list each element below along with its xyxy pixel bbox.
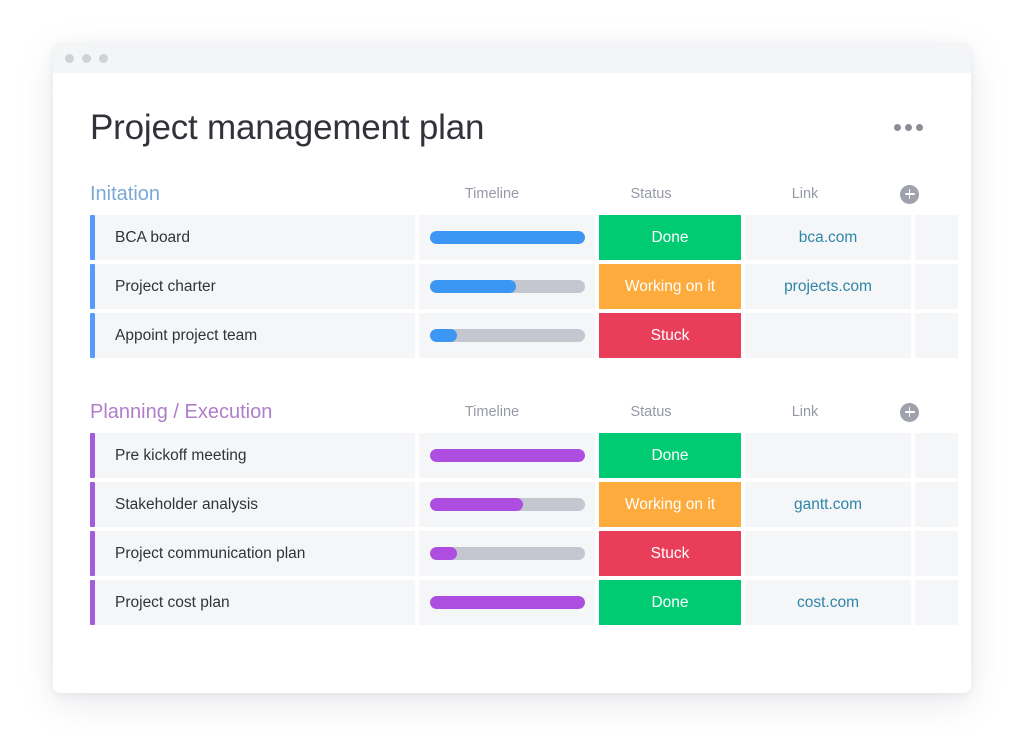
status-badge[interactable]: Stuck xyxy=(599,531,741,576)
link-cell[interactable]: projects.com xyxy=(745,264,911,309)
progress-fill xyxy=(430,449,585,462)
column-headers: TimelineStatusLink xyxy=(404,185,931,204)
table-row[interactable]: Stakeholder analysisWorking on itgantt.c… xyxy=(90,482,931,527)
progress-fill xyxy=(430,498,523,511)
table-row[interactable]: Appoint project teamStuck xyxy=(90,313,931,358)
column-headers: TimelineStatusLink xyxy=(404,403,931,422)
progress-fill xyxy=(430,329,458,342)
timeline-cell[interactable] xyxy=(419,433,595,478)
add-column-cell xyxy=(888,403,931,422)
progress-fill xyxy=(430,231,585,244)
task-name-cell[interactable]: Stakeholder analysis xyxy=(95,482,415,527)
link-cell[interactable] xyxy=(745,531,911,576)
empty-column-cell[interactable] xyxy=(915,482,958,527)
task-name-cell[interactable]: Project charter xyxy=(95,264,415,309)
table-row[interactable]: BCA boardDonebca.com xyxy=(90,215,931,260)
task-name-cell[interactable]: BCA board xyxy=(95,215,415,260)
table-row[interactable]: Pre kickoff meetingDone xyxy=(90,433,931,478)
add-column-cell xyxy=(888,185,931,204)
table-row[interactable]: Project communication planStuck xyxy=(90,531,931,576)
group-title[interactable]: Planning / Execution xyxy=(90,400,272,424)
timeline-cell[interactable] xyxy=(419,215,595,260)
task-name-cell[interactable]: Pre kickoff meeting xyxy=(95,433,415,478)
progress-track xyxy=(430,329,585,342)
link-cell[interactable]: gantt.com xyxy=(745,482,911,527)
plus-circle-icon[interactable] xyxy=(900,185,919,204)
ellipsis-horizontal-icon[interactable] xyxy=(894,124,923,131)
board-group: InitationTimelineStatusLinkBCA boardDone… xyxy=(90,179,931,358)
column-header-timeline[interactable]: Timeline xyxy=(404,186,580,202)
timeline-cell[interactable] xyxy=(419,482,595,527)
window-maximize-dot[interactable] xyxy=(99,54,108,63)
board-container: Project management plan InitationTimelin… xyxy=(53,73,971,693)
link-cell[interactable] xyxy=(745,313,911,358)
group-title[interactable]: Initation xyxy=(90,182,160,206)
progress-track xyxy=(430,596,585,609)
table-row[interactable]: Project cost planDonecost.com xyxy=(90,580,931,625)
timeline-cell[interactable] xyxy=(419,264,595,309)
group-header: InitationTimelineStatusLink xyxy=(90,179,931,209)
task-name-cell[interactable]: Project communication plan xyxy=(95,531,415,576)
column-header-link[interactable]: Link xyxy=(722,186,888,202)
column-header-timeline[interactable]: Timeline xyxy=(404,404,580,420)
groups-root: InitationTimelineStatusLinkBCA boardDone… xyxy=(90,179,931,625)
progress-fill xyxy=(430,280,517,293)
status-badge[interactable]: Done xyxy=(599,433,741,478)
link-cell[interactable]: cost.com xyxy=(745,580,911,625)
window-minimize-dot[interactable] xyxy=(82,54,91,63)
column-header-status[interactable]: Status xyxy=(580,186,722,202)
plus-circle-icon[interactable] xyxy=(900,403,919,422)
column-header-status[interactable]: Status xyxy=(580,404,722,420)
empty-column-cell[interactable] xyxy=(915,531,958,576)
ellipsis-dot xyxy=(916,124,923,131)
status-badge[interactable]: Done xyxy=(599,580,741,625)
table-row[interactable]: Project charterWorking on itprojects.com xyxy=(90,264,931,309)
empty-column-cell[interactable] xyxy=(915,580,958,625)
status-badge[interactable]: Working on it xyxy=(599,264,741,309)
task-name-cell[interactable]: Project cost plan xyxy=(95,580,415,625)
page-title: Project management plan xyxy=(90,107,484,149)
link-cell[interactable]: bca.com xyxy=(745,215,911,260)
status-badge[interactable]: Working on it xyxy=(599,482,741,527)
timeline-cell[interactable] xyxy=(419,313,595,358)
empty-column-cell[interactable] xyxy=(915,433,958,478)
progress-track xyxy=(430,498,585,511)
group-header: Planning / ExecutionTimelineStatusLink xyxy=(90,397,931,427)
link-cell[interactable] xyxy=(745,433,911,478)
status-badge[interactable]: Stuck xyxy=(599,313,741,358)
column-header-link[interactable]: Link xyxy=(722,404,888,420)
timeline-cell[interactable] xyxy=(419,580,595,625)
empty-column-cell[interactable] xyxy=(915,215,958,260)
timeline-cell[interactable] xyxy=(419,531,595,576)
board-header: Project management plan xyxy=(90,107,931,149)
progress-track xyxy=(430,547,585,560)
status-badge[interactable]: Done xyxy=(599,215,741,260)
ellipsis-dot xyxy=(894,124,901,131)
window-titlebar xyxy=(53,43,971,73)
app-window: Project management plan InitationTimelin… xyxy=(53,43,971,693)
ellipsis-dot xyxy=(905,124,912,131)
progress-track xyxy=(430,449,585,462)
progress-track xyxy=(430,280,585,293)
task-name-cell[interactable]: Appoint project team xyxy=(95,313,415,358)
window-close-dot[interactable] xyxy=(65,54,74,63)
progress-fill xyxy=(430,596,585,609)
empty-column-cell[interactable] xyxy=(915,313,958,358)
board-group: Planning / ExecutionTimelineStatusLinkPr… xyxy=(90,397,931,625)
progress-track xyxy=(430,231,585,244)
progress-fill xyxy=(430,547,458,560)
empty-column-cell[interactable] xyxy=(915,264,958,309)
